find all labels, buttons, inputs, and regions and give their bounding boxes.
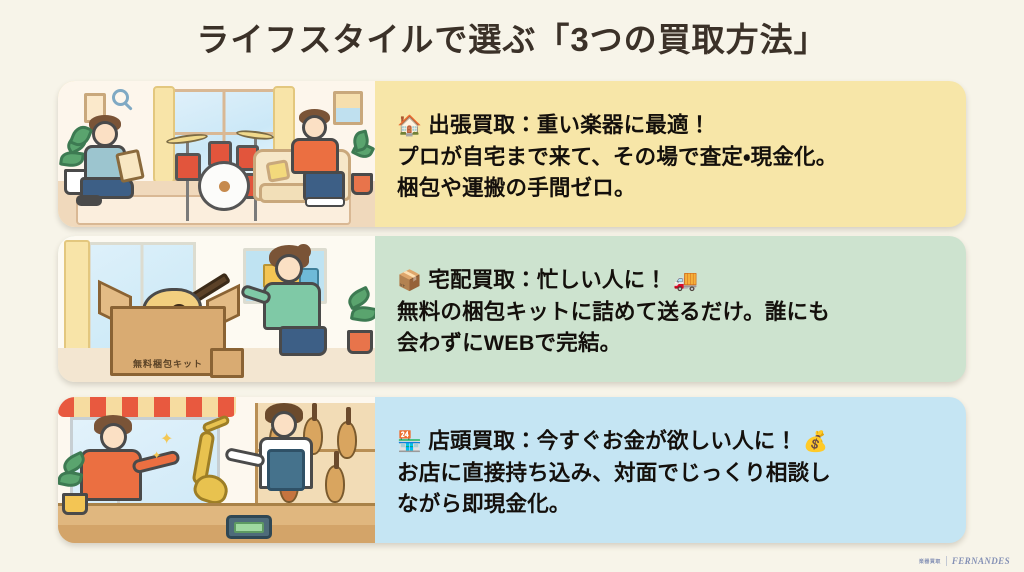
apron-icon (267, 449, 305, 491)
illustration-shop-counter: ✦ ✦ (58, 397, 375, 543)
method-card-home-visit[interactable]: 🏠 出張買取：重い楽器に最適！ プロが自宅まで来て、その場で査定・現金化。 梱包… (58, 81, 966, 227)
page-title: ライフスタイルで選ぶ「3つの買取方法」 (0, 0, 1024, 58)
card-line-3: 会わずにWEBで完結。 (397, 328, 946, 360)
card-headline: 🏠 出張買取：重い楽器に最適！ (397, 110, 946, 142)
curtain-left-icon (153, 86, 175, 186)
card-line-2: 無料の梱包キットに詰めて送るだけ。誰にも (397, 297, 946, 329)
curtain-icon (64, 240, 90, 358)
watermark-jp-text: 楽器買取 (919, 558, 941, 565)
plant-pot-icon (62, 493, 88, 515)
saxophone-icon (176, 421, 236, 501)
guitar-icon (325, 465, 345, 503)
card-line-1: 宅配買取：忙しい人に！ (428, 268, 667, 292)
guitar-icon (337, 421, 357, 459)
watermark-brand: FERNANDES (952, 556, 1010, 566)
banknotes-icon (234, 522, 264, 533)
watermark: 楽器買取 FERNANDES (919, 556, 1010, 566)
money-bag-icon: 💰 (803, 431, 828, 453)
plant-pot-icon (347, 330, 373, 354)
card-text-home-visit: 🏠 出張買取：重い楽器に最適！ プロが自宅まで来て、その場で査定・現金化。 梱包… (375, 81, 966, 227)
plant-pot-icon (351, 173, 373, 195)
method-card-in-store[interactable]: ✦ ✦ 🏪 店頭買取：今すぐお金が欲しい人に！ 💰 お店に直接持ち込み、対面でじ… (58, 397, 966, 543)
card-headline: 🏪 店頭買取：今すぐお金が欲しい人に！ 💰 (397, 426, 946, 458)
card-line-2: プロが自宅まで来て、その場で査定・現金化。 (397, 142, 946, 174)
card-text-delivery: 📦 宅配買取：忙しい人に！ 🚚 無料の梱包キットに詰めて送るだけ。誰にも 会わず… (375, 236, 966, 382)
package-icon: 📦 (397, 270, 422, 292)
small-box-icon (210, 348, 244, 378)
card-line-3: 梱包や運搬の手間ゼロ。 (397, 173, 946, 205)
wall-art-icon (333, 91, 363, 125)
watermark-divider (946, 556, 947, 566)
delivery-truck-icon: 🚚 (673, 270, 698, 292)
card-text-in-store: 🏪 店頭買取：今すぐお金が欲しい人に！ 💰 お店に直接持ち込み、対面でじっくり相… (375, 397, 966, 543)
house-icon: 🏠 (397, 115, 422, 137)
awning-icon (58, 397, 236, 417)
illustration-packing-guitar: 無料梱包キット (58, 236, 375, 382)
illustration-living-room-appraisal (58, 81, 375, 227)
box-label: 無料梱包キット (120, 357, 216, 370)
sparkle-icon: ✦ (160, 429, 173, 449)
bass-drum-icon (198, 161, 250, 211)
card-line-2: お店に直接持ち込み、対面でじっくり相談し (397, 458, 946, 490)
card-headline: 📦 宅配買取：忙しい人に！ 🚚 (397, 265, 946, 297)
sparkle-icon: ✦ (152, 449, 161, 462)
card-line-3: ながら即現金化。 (397, 489, 946, 521)
storefront-icon: 🏪 (397, 431, 422, 453)
method-card-delivery[interactable]: 無料梱包キット 📦 宅配買取：忙しい人に！ 🚚 無料の梱包キットに詰めて送るだけ… (58, 236, 966, 382)
card-line-1: 出張買取：重い楽器に最適！ (428, 113, 710, 137)
magnifier-icon (112, 89, 129, 106)
card-line-1: 店頭買取：今すぐお金が欲しい人に！ (428, 429, 797, 453)
